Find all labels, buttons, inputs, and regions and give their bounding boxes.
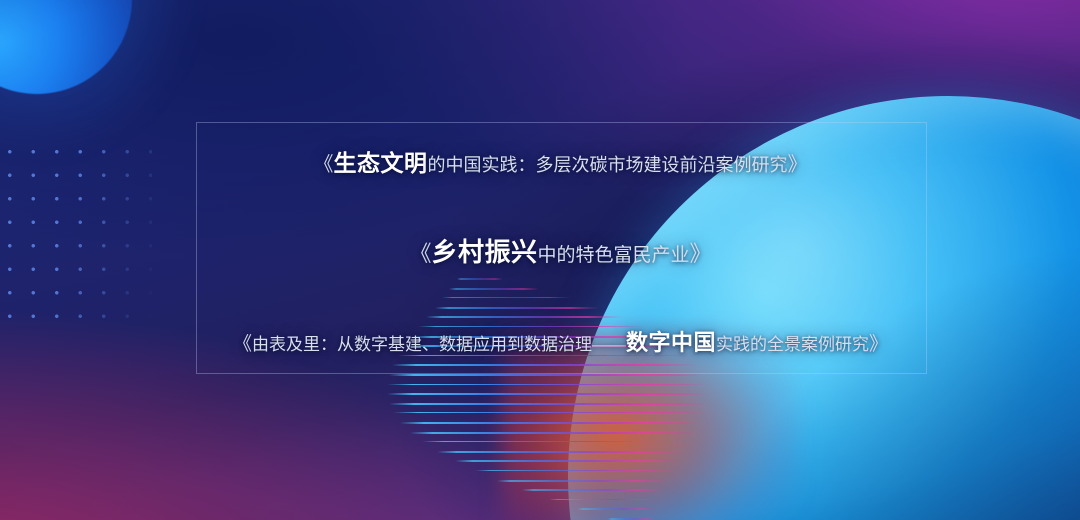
speed-line [389, 403, 706, 405]
title-2-highlight: 乡村振兴 [431, 237, 537, 267]
speed-line [410, 432, 695, 434]
title-3-highlight: 数字中国 [626, 330, 716, 355]
speed-line [387, 384, 706, 385]
speed-line [387, 393, 707, 395]
speed-line [389, 374, 702, 376]
close-bracket: 》 [788, 154, 808, 176]
title-line-3: 《由表及里：从数字基建、数据应用到数据治理——数字中国实践的全景案例研究》 [196, 325, 925, 357]
speed-line [422, 441, 689, 442]
title-line-2: 《乡村振兴中的特色富民产业》 [196, 232, 925, 269]
open-bracket: 《 [233, 334, 252, 355]
speed-line [522, 489, 662, 491]
speed-line [437, 451, 683, 453]
speed-line [549, 499, 658, 500]
title-line-1: 《生态文明的中国实践：多层次碳市场建设前沿案例研究》 [196, 144, 925, 178]
title-3-lead: 由表及里：从数字基建、数据应用到数据治理—— [252, 335, 626, 354]
speed-line [577, 508, 655, 510]
speed-line [475, 470, 672, 471]
title-3-rest: 实践的全景案例研究 [716, 335, 869, 354]
close-bracket: 》 [690, 241, 712, 266]
title-block: 《生态文明的中国实践：多层次碳市场建设前沿案例研究》 《乡村振兴中的特色富民产业… [196, 122, 925, 372]
open-bracket: 《 [409, 241, 431, 266]
speed-line [400, 422, 699, 424]
speed-line [393, 412, 703, 413]
poster-canvas: 《生态文明的中国实践：多层次碳市场建设前沿案例研究》 《乡村振兴中的特色富民产业… [0, 0, 1080, 520]
title-1-highlight: 生态文明 [334, 150, 428, 176]
open-bracket: 《 [314, 154, 334, 176]
speed-line [497, 480, 666, 482]
title-2-rest: 中的特色富民产业 [538, 245, 690, 266]
title-1-rest: 的中国实践：多层次碳市场建设前沿案例研究 [428, 155, 788, 175]
speed-line [455, 460, 678, 462]
close-bracket: 》 [869, 334, 888, 355]
